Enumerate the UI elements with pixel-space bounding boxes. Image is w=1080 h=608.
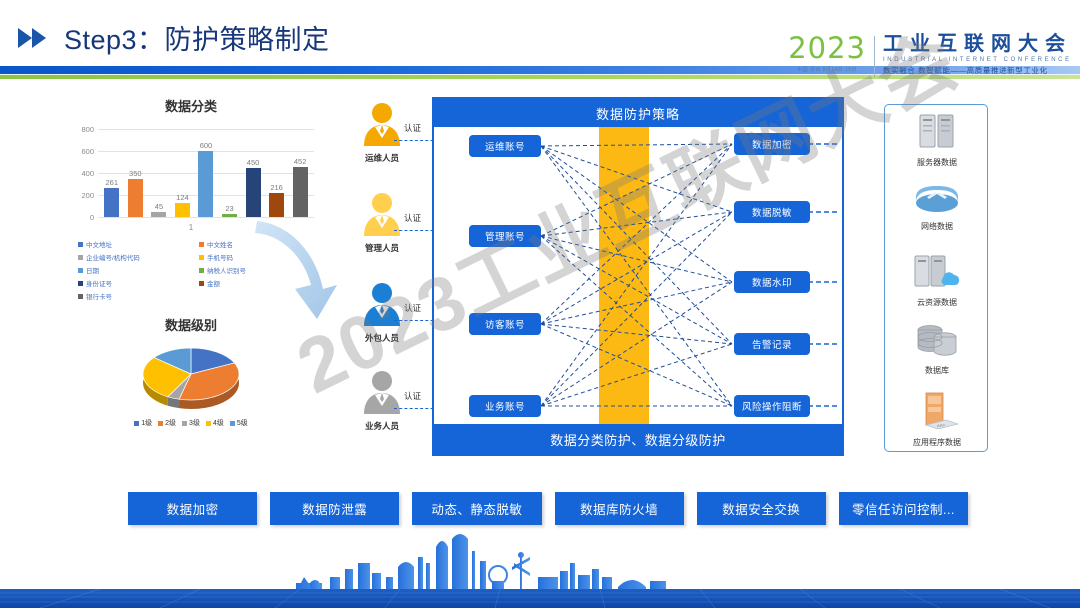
legend-item: 银行卡号 [78,291,195,301]
bar [128,179,143,218]
auth-label: 认证 [404,302,421,314]
logo-divider [874,36,875,78]
legend-swatch [78,294,83,299]
bar-value-label: 216 [270,183,283,192]
logo-year: 2023 [788,34,866,63]
bar [175,203,190,217]
mapping-line [541,144,732,324]
page-header: Step3：防护策略制定 2023 中国·苏州 8月14日-16日 工业互联网大… [0,0,1080,90]
pie-legend-label: 5级 [237,418,248,428]
legend-swatch [78,242,83,247]
bar-value-label: 23 [225,204,233,213]
data-source-item: 网络数据 [885,181,989,232]
mapping-line [541,212,732,236]
legend-label: 金额 [207,278,220,288]
bar-column: 45 [151,129,166,217]
capability-button[interactable]: 数据防泄露 [270,492,399,525]
auth-label: 认证 [404,122,421,134]
personnel-column: 运维人员认证管理人员认证外包人员认证业务人员认证 [332,100,432,450]
bar-value-label: 450 [247,158,260,167]
auth-label: 认证 [404,212,421,224]
pie-legend-item: 5级 [230,418,248,428]
auth-label: 认证 [404,390,421,402]
pie-legend-label: 3级 [189,418,200,428]
router-icon [913,202,961,219]
bar [198,151,213,217]
policy-node[interactable]: 数据脱敏 [734,201,810,223]
data-source-label: 应用程序数据 [885,437,989,448]
legend-label: 中文地址 [86,239,112,249]
cloud-server-icon [912,278,962,295]
pie-legend-label: 1级 [141,418,152,428]
pie-legend-item: 1级 [134,418,152,428]
capability-buttons: 数据加密数据防泄露动态、静态脱敏数据库防火墙数据安全交换零信任访问控制... [128,492,968,525]
bar-chart-plot: 2613504512460023450216452 [100,129,312,217]
bar-value-label: 600 [200,141,213,150]
account-node[interactable]: 管理账号 [469,225,541,247]
title-row: Step3：防护策略制定 [18,18,330,57]
capability-button[interactable]: 数据加密 [128,492,257,525]
capability-button[interactable]: 零信任访问控制... [839,492,968,525]
bar-column: 124 [175,129,190,217]
legend-label: 企业编号/机构代码 [86,252,140,262]
legend-item: 中文地址 [78,239,195,249]
legend-swatch [199,268,204,273]
bar-column: 216 [269,129,284,217]
data-source-item: 服务器数据 [885,111,989,168]
mapping-line [541,236,732,344]
logo-cn-name: 工业互联网大会 [883,34,1072,55]
policy-node[interactable]: 数据水印 [734,271,810,293]
y-axis-tick: 0 [66,213,94,222]
data-source-label: 网络数据 [885,221,989,232]
capability-button[interactable]: 数据安全交换 [697,492,826,525]
bar-column: 452 [293,129,308,217]
data-source-item: 云资源数据 [885,251,989,308]
mapping-line [541,282,732,406]
bar-column: 350 [128,129,143,217]
account-node[interactable]: 运维账号 [469,135,541,157]
bar [222,214,237,217]
personnel-label: 运维人员 [332,152,432,164]
data-source-label: 数据库 [885,365,989,376]
server-icon [916,138,958,155]
legend-label: 银行卡号 [86,291,112,301]
pie-chart-svg [66,340,316,414]
policy-node[interactable]: 数据加密 [734,133,810,155]
conference-logo: 2023 中国·苏州 8月14日-16日 工业互联网大会 INDUSTRIAL … [788,34,1072,78]
pie-legend-swatch [206,421,211,426]
page-title: Step3：防护策略制定 [64,18,330,57]
bar [269,193,284,217]
bar-chart-title: 数据分类 [66,96,316,115]
y-axis-tick: 600 [66,147,94,156]
account-node[interactable]: 业务账号 [469,395,541,417]
database-icon [914,346,960,363]
pie-legend-swatch [182,421,187,426]
logo-date: 中国·苏州 8月14日-16日 [797,66,857,73]
personnel-label: 业务人员 [332,420,432,432]
diagram-footer: 数据分类防护、数据分级防护 [434,424,842,454]
data-source-item: APP应用程序数据 [885,391,989,448]
mapping-line [541,144,732,236]
mapping-line [541,212,732,324]
data-sources-panel: 服务器数据网络数据云资源数据数据库APP应用程序数据 [884,104,988,452]
mapping-line [541,324,732,406]
bar-column: 450 [246,129,261,217]
data-source-item: 数据库 [885,321,989,376]
legend-label: 手机号码 [207,252,233,262]
bar-column: 261 [104,129,119,217]
bar-value-label: 45 [155,202,163,211]
pie-legend-item: 3级 [182,418,200,428]
logo-subtitle: 数实融合 数智赋能——高质量推进新型工业化 [883,65,1072,76]
y-axis-tick: 800 [66,125,94,134]
bar [104,188,119,217]
legend-swatch [78,268,83,273]
protection-strategy-diagram: 数据防护策略 运维账号管理账号访客账号业务账号数据加密数据脱敏数据水印告警记录风… [432,97,844,456]
y-axis-tick: 400 [66,169,94,178]
bar-value-label: 350 [129,169,142,178]
personnel-label: 外包人员 [332,332,432,344]
legend-item: 身份证号 [78,278,195,288]
legend-item: 企业编号/机构代码 [78,252,195,262]
bar [293,167,308,217]
mapping-line [541,144,732,146]
svg-text:APP: APP [937,423,945,428]
bar-column: 600 [198,129,213,217]
pie-legend-swatch [230,421,235,426]
mapping-line [541,146,732,344]
mapping-line [541,146,732,406]
legend-label: 身份证号 [86,278,112,288]
mapping-line [541,212,732,406]
pie-chart [66,340,316,414]
legend-swatch [199,281,204,286]
legend-swatch [78,281,83,286]
legend-label: 纳税人识别号 [207,265,246,275]
legend-item: 日期 [78,265,195,275]
personnel-label: 管理人员 [332,242,432,254]
pie-legend-item: 4级 [206,418,224,428]
logo-name-block: 工业互联网大会 INDUSTRIAL INTERNET CONFERENCE 数… [883,34,1072,76]
capability-button[interactable]: 动态、静态脱敏 [412,492,541,525]
bar-value-label: 452 [294,157,307,166]
pie-legend-swatch [134,421,139,426]
mapping-line [541,344,732,406]
legend-label: 中文姓名 [207,239,233,249]
legend-swatch [199,242,204,247]
pie-chart-legend: 1级2级3级4级5级 [66,418,316,428]
application-icon: APP [915,418,959,435]
mapping-line [541,324,732,344]
y-axis-tick: 200 [66,191,94,200]
pie-legend-label: 2级 [165,418,176,428]
legend-label: 日期 [86,265,99,275]
capability-button[interactable]: 数据库防火墙 [555,492,684,525]
policy-node[interactable]: 风险操作阻断 [734,395,810,417]
city-skyline-decoration [0,533,1080,608]
data-source-label: 服务器数据 [885,157,989,168]
pie-legend-label: 4级 [213,418,224,428]
logo-year-block: 2023 中国·苏州 8月14日-16日 [788,34,866,73]
mapping-line [541,282,732,324]
bar-value-label: 124 [176,193,189,202]
bar [151,212,166,217]
double-triangle-icon [18,27,52,49]
account-node[interactable]: 访客账号 [469,313,541,335]
bar-column: 23 [222,129,237,217]
mapping-line [541,146,732,212]
data-source-label: 云资源数据 [885,297,989,308]
legend-swatch [78,255,83,260]
pie-legend-swatch [158,421,163,426]
bar-value-label: 261 [106,178,119,187]
legend-swatch [199,255,204,260]
bar [246,168,261,218]
pie-legend-item: 2级 [158,418,176,428]
logo-en-name: INDUSTRIAL INTERNET CONFERENCE [883,57,1072,63]
policy-node[interactable]: 告警记录 [734,333,810,355]
